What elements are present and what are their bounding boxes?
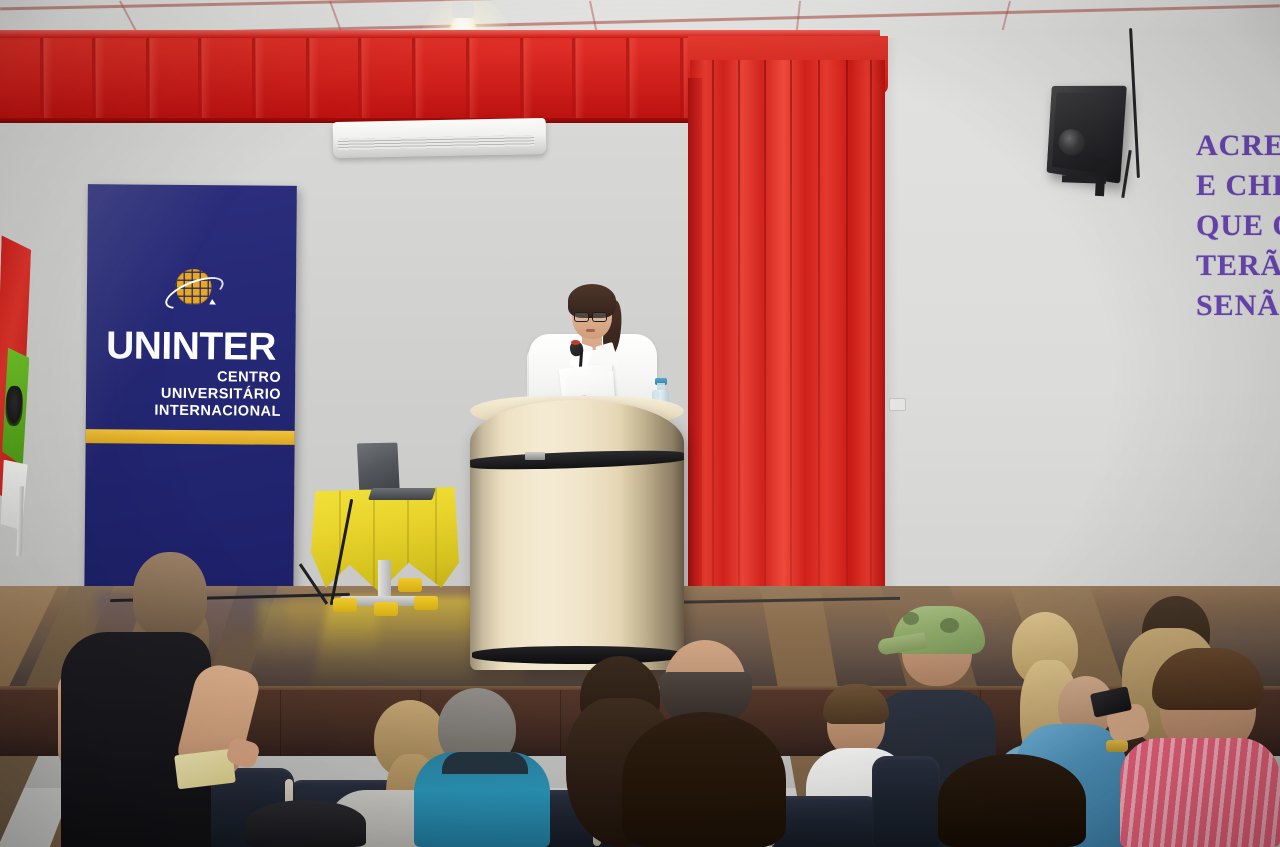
wristwatch	[1106, 740, 1128, 752]
auditorium-chair[interactable]	[770, 796, 880, 847]
banner-subtitle: CENTRO UNIVERSITÁRIO INTERNACIONAL	[86, 368, 295, 421]
auditorium-chair[interactable]	[872, 756, 940, 847]
wall-text-line-3: QUE O	[1196, 206, 1280, 246]
flag-pole	[16, 486, 23, 556]
table-foot-pad	[398, 578, 422, 592]
table-foot-pad	[414, 596, 438, 610]
wall-text-line-5: SENÃO	[1196, 286, 1280, 326]
eyeglasses-icon	[592, 312, 607, 322]
polo-collar	[442, 752, 528, 774]
audience-head	[246, 800, 366, 847]
table-foot-pad	[333, 598, 357, 612]
wall-speaker	[1047, 86, 1127, 184]
eyeglasses-icon	[574, 312, 589, 322]
wall-lettering: ACREDI E CHEG QUE O TERÃO SENÃO	[1196, 126, 1280, 326]
table-foot-pad	[374, 602, 398, 616]
banner-brand-name: UNINTER	[86, 324, 295, 370]
presenter-mouth	[586, 329, 595, 332]
wall-outlet	[889, 398, 906, 411]
uninter-banner: UNINTER CENTRO UNIVERSITÁRIO INTERNACION…	[84, 184, 297, 618]
banner-subtitle-line-1: CENTRO	[86, 368, 281, 387]
globe-orbit-icon	[163, 267, 225, 318]
wall-text-line-2: E CHEG	[1196, 166, 1280, 206]
audience-hair	[622, 712, 786, 847]
banner-subtitle-line-2: UNIVERSITÁRIO	[86, 385, 281, 404]
lectern-base-band	[472, 646, 682, 664]
laptop-keyboard	[368, 488, 436, 500]
microphone-tip	[571, 340, 580, 345]
banner-accent-stripe	[86, 429, 295, 445]
air-conditioner-unit	[333, 118, 547, 158]
audience-hair	[1152, 648, 1264, 710]
lectern	[470, 400, 684, 670]
standing-woman-head	[133, 552, 207, 638]
table-pedestal	[378, 560, 391, 600]
banner-subtitle-line-3: INTERNACIONAL	[86, 402, 281, 421]
audience-hair	[938, 754, 1086, 847]
auditorium-photo: ACREDI E CHEG QUE O TERÃO SENÃO UNINTER …	[0, 0, 1280, 847]
lectern-nameplate	[525, 452, 545, 460]
audience-torso	[1120, 738, 1280, 847]
ceiling-lamp-fixture	[452, 2, 474, 18]
wall-text-line-1: ACREDI	[1196, 126, 1280, 166]
eyeglasses-bridge	[588, 316, 593, 318]
wall-text-line-4: TERÃO	[1196, 246, 1280, 286]
air-conditioner-vent	[338, 135, 534, 150]
